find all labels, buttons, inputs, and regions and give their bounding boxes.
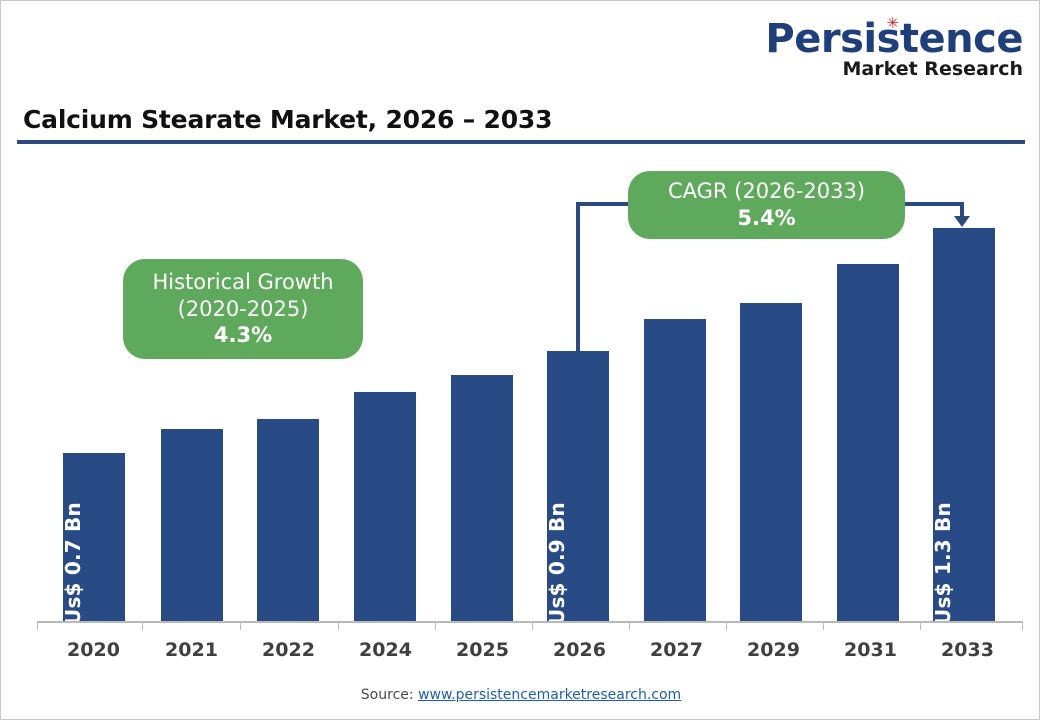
x-axis-label-2020: 2020 xyxy=(45,639,142,661)
x-axis-tick xyxy=(823,621,824,630)
bar-value-label-2026: Us$ 0.9 Bn xyxy=(545,502,569,625)
x-axis-tick xyxy=(920,621,921,630)
bar-2024 xyxy=(354,392,416,621)
x-axis-label-2021: 2021 xyxy=(143,639,240,661)
x-axis-label-2027: 2027 xyxy=(628,639,725,661)
callout-cagr-line1: CAGR (2026-2033) xyxy=(668,178,865,205)
source-line: Source: www.persistencemarketresearch.co… xyxy=(1,687,1040,703)
x-axis-label-2026: 2026 xyxy=(531,639,628,661)
x-axis-label-2029: 2029 xyxy=(725,639,822,661)
x-axis-tick xyxy=(629,621,630,630)
bar-2021 xyxy=(161,429,223,621)
bar-2027 xyxy=(644,319,706,621)
x-axis-label-2022: 2022 xyxy=(240,639,337,661)
bar-2025 xyxy=(451,375,513,621)
chart-page: Persistence ✳ Market Research Calcium St… xyxy=(0,0,1040,720)
source-prefix: Source: xyxy=(361,687,418,703)
x-axis-label-2033: 2033 xyxy=(919,639,1016,661)
x-axis-tick xyxy=(240,621,241,630)
bar-2031 xyxy=(837,264,899,621)
bar-2029 xyxy=(740,303,802,621)
x-axis-tick xyxy=(726,621,727,630)
callout-cagr-value: 5.4% xyxy=(737,205,795,232)
cagr-connector-arrowhead xyxy=(954,216,970,227)
callout-historical-line2: (2020-2025) xyxy=(178,296,309,323)
x-axis-label-2025: 2025 xyxy=(434,639,531,661)
x-axis-tick xyxy=(1022,621,1023,630)
x-axis-label-2024: 2024 xyxy=(337,639,434,661)
x-axis-line xyxy=(37,621,1023,623)
source-link[interactable]: www.persistencemarketresearch.com xyxy=(418,687,681,703)
bar-value-label-2033: Us$ 1.3 Bn xyxy=(931,502,955,625)
x-axis-tick xyxy=(142,621,143,630)
x-axis-tick xyxy=(435,621,436,630)
bar-chart-plot: Us$ 0.7 Bn Us$ 0.9 Bn Us$ 1.3 Bn 2020 20… xyxy=(1,1,1040,720)
cagr-connector-left-drop xyxy=(576,202,580,352)
callout-cagr: CAGR (2026-2033) 5.4% xyxy=(628,171,905,239)
x-axis-label-2031: 2031 xyxy=(822,639,919,661)
callout-historical-value: 4.3% xyxy=(214,322,272,349)
bar-value-label-2020: Us$ 0.7 Bn xyxy=(61,502,85,625)
bar-2022 xyxy=(257,419,319,621)
callout-historical-growth: Historical Growth (2020-2025) 4.3% xyxy=(123,259,363,359)
x-axis-tick xyxy=(37,621,38,630)
x-axis-tick xyxy=(532,621,533,630)
x-axis-tick xyxy=(338,621,339,630)
callout-historical-line1: Historical Growth xyxy=(152,269,333,296)
